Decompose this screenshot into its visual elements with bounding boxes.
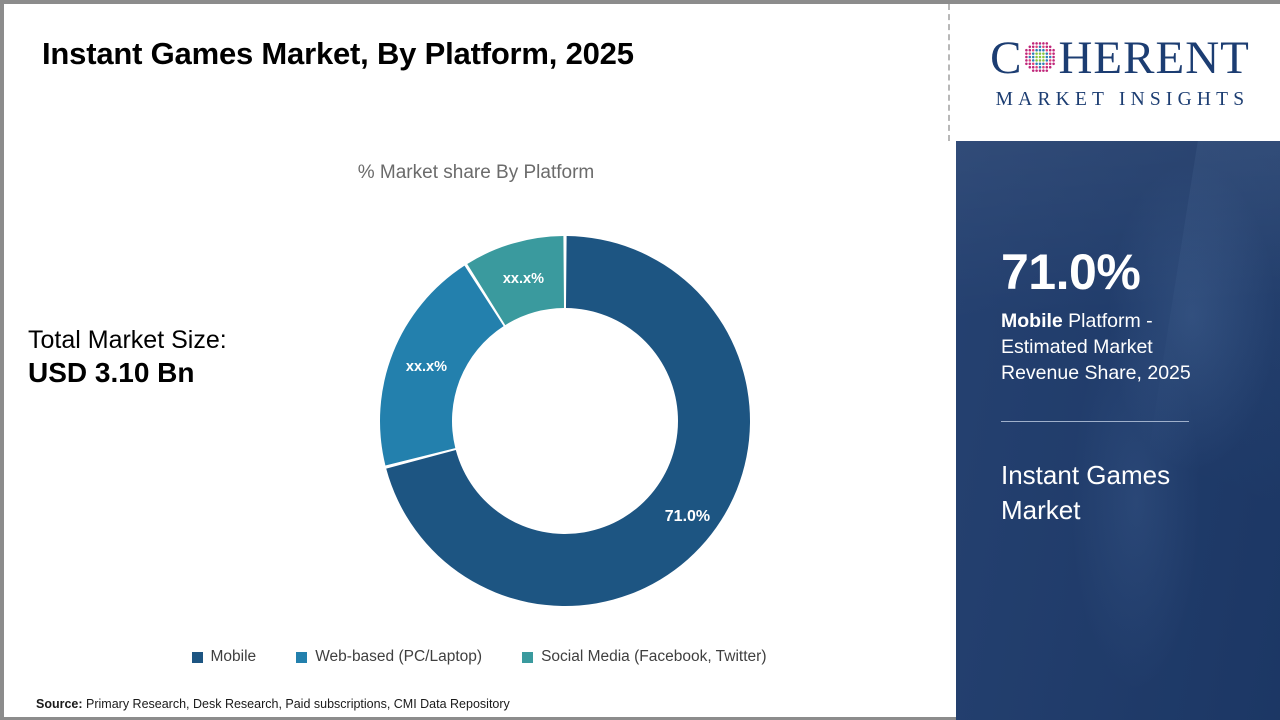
donut-chart: 71.0%xx.x%xx.x% bbox=[375, 231, 755, 611]
legend-swatch-icon bbox=[522, 652, 533, 663]
coherent-market-insights-logo: C HERENT MARKET INSIGHTS bbox=[974, 35, 1266, 111]
logo-area: C HERENT MARKET INSIGHTS bbox=[956, 4, 1280, 141]
logo-wordmark: C HERENT bbox=[974, 35, 1266, 82]
total-market-size-block: Total Market Size: USD 3.10 Bn bbox=[28, 326, 227, 388]
highlight-stat-value: 71.0% bbox=[1001, 247, 1256, 297]
donut-slice-label: xx.x% bbox=[503, 271, 544, 287]
source-line: Source: Primary Research, Desk Research,… bbox=[36, 697, 510, 711]
donut-chart-svg: 71.0%xx.x%xx.x% bbox=[375, 231, 755, 611]
highlight-panel: 71.0% Mobile Platform - Estimated Market… bbox=[956, 141, 1280, 720]
globe-icon bbox=[1023, 40, 1057, 74]
infographic-page: Instant Games Market, By Platform, 2025 … bbox=[0, 0, 1280, 720]
highlight-stat-description: Mobile Platform - Estimated Market Reven… bbox=[1001, 309, 1233, 387]
source-text: Primary Research, Desk Research, Paid su… bbox=[83, 697, 510, 711]
source-prefix: Source: bbox=[36, 697, 83, 711]
chart-legend: MobileWeb-based (PC/Laptop)Social Media … bbox=[4, 648, 948, 666]
logo-letter-c: C bbox=[990, 35, 1022, 82]
panel-divider-rule bbox=[1001, 421, 1189, 422]
main-content-area: Instant Games Market, By Platform, 2025 … bbox=[4, 4, 948, 717]
chart-subtitle: % Market share By Platform bbox=[4, 162, 948, 184]
legend-item[interactable]: Mobile bbox=[192, 648, 257, 666]
logo-tagline: MARKET INSIGHTS bbox=[974, 89, 1266, 111]
donut-slices bbox=[380, 236, 750, 606]
legend-item[interactable]: Social Media (Facebook, Twitter) bbox=[522, 648, 766, 666]
total-market-size-value: USD 3.10 Bn bbox=[28, 357, 227, 388]
legend-item-label: Web-based (PC/Laptop) bbox=[315, 648, 482, 666]
donut-slice-label: xx.x% bbox=[406, 359, 447, 375]
legend-swatch-icon bbox=[192, 652, 203, 663]
highlight-panel-content: 71.0% Mobile Platform - Estimated Market… bbox=[956, 141, 1256, 527]
legend-item[interactable]: Web-based (PC/Laptop) bbox=[296, 648, 482, 666]
logo-word-rest: HERENT bbox=[1058, 35, 1249, 82]
legend-swatch-icon bbox=[296, 652, 307, 663]
highlight-stat-description-bold: Mobile bbox=[1001, 310, 1063, 332]
total-market-size-label: Total Market Size: bbox=[28, 326, 227, 354]
market-name: Instant Games Market bbox=[1001, 458, 1236, 528]
vertical-dashed-divider bbox=[948, 4, 950, 141]
legend-item-label: Mobile bbox=[211, 648, 257, 666]
donut-slice-label: 71.0% bbox=[665, 508, 710, 525]
page-title: Instant Games Market, By Platform, 2025 bbox=[42, 36, 634, 72]
legend-item-label: Social Media (Facebook, Twitter) bbox=[541, 648, 766, 666]
